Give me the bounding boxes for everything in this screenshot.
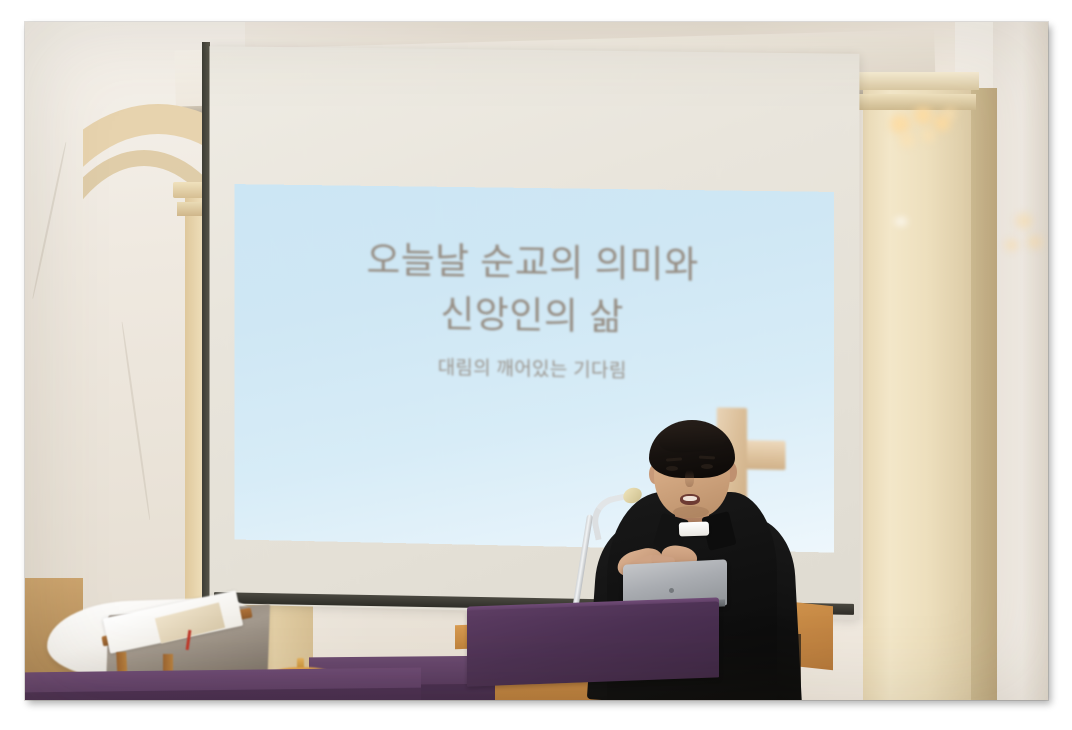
marble-wall-right [993, 22, 1048, 700]
light-reflection [919, 128, 938, 143]
laptop-logo [669, 588, 674, 593]
light-specular [895, 218, 907, 225]
light-reflection [887, 114, 913, 134]
priest-eye-right [701, 464, 713, 469]
light-reflection [1025, 234, 1045, 250]
priest-eye-left [666, 466, 678, 471]
pillar-right [863, 72, 971, 700]
priest-teeth [683, 496, 697, 501]
priest-nose [685, 470, 694, 487]
pillar-capital-upper [853, 72, 979, 90]
slide-subtitle: 대림의 깨어있는 기다림 [234, 349, 834, 386]
pillar-right-side-face [971, 88, 997, 700]
ambo-purple-cloth [467, 601, 719, 686]
slide-title-line-2: 신앙인의 삶 [234, 280, 834, 344]
photograph: 오늘날 순교의 의미와 신앙인의 삶 대림의 깨어있는 기다림 [25, 22, 1048, 700]
light-reflection [1013, 212, 1035, 230]
roman-collar [679, 521, 709, 536]
light-reflection [1003, 238, 1020, 252]
light-reflection [897, 132, 917, 148]
light-reflection [941, 106, 959, 120]
